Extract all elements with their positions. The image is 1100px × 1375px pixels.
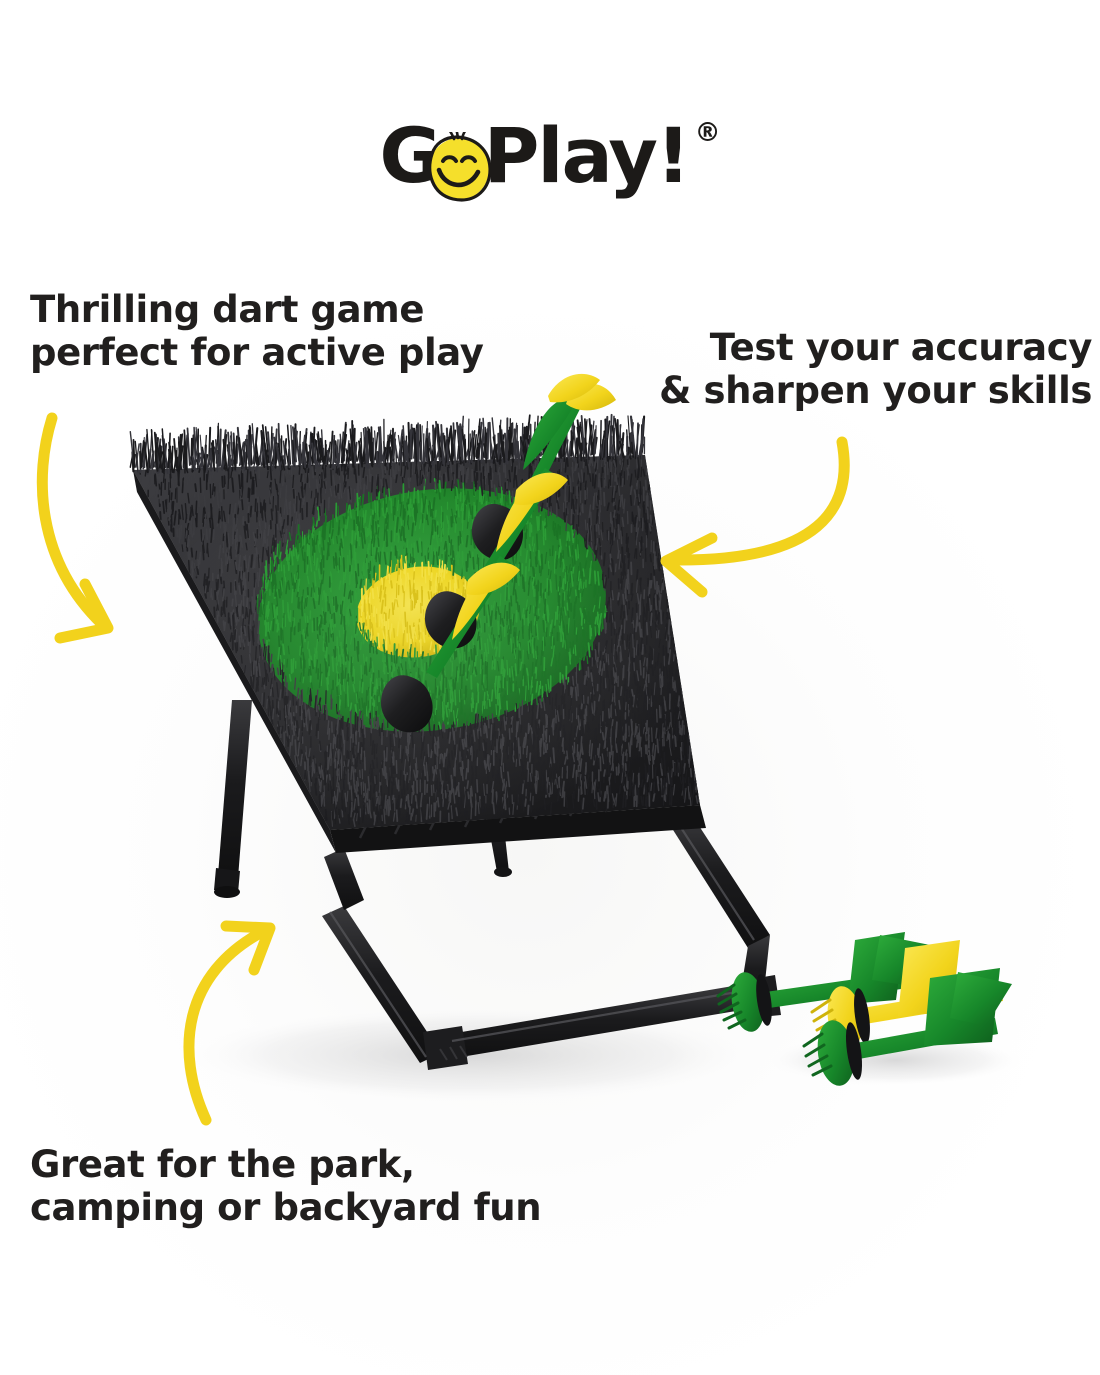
stand-frame [322, 812, 781, 1070]
target-green-ring [240, 464, 623, 756]
curved-arrow-down-left-icon [640, 430, 880, 620]
loose-dart-yellow [812, 940, 1003, 1052]
curved-arrow-up-right-icon [150, 890, 350, 1130]
callout-text-test-your-accuracy: Test your accuracy & sharpen your skills [659, 326, 1092, 413]
dart-in-board-3 [381, 556, 520, 732]
dart-in-board-1 [472, 374, 616, 560]
callout-text-great-for-the-park: Great for the park, camping or backyard … [30, 1143, 541, 1230]
callout-text-thrilling-dart-game: Thrilling dart game perfect for active p… [30, 288, 483, 375]
loose-dart-green-2 [804, 968, 1012, 1088]
stand-front-leg [214, 700, 252, 898]
target-yellow-bullseye [350, 558, 487, 666]
loose-darts-shadow [765, 1034, 1025, 1086]
loose-dart-green-1 [718, 932, 930, 1034]
dart-in-board-2 [425, 468, 568, 648]
product-marketing-image: G Play! ® [0, 0, 1100, 1375]
logo-lockup: G Play! ® [379, 118, 720, 218]
brand-logo: G Play! ® [0, 118, 1100, 218]
smiley-face-icon [426, 132, 492, 202]
stand-rear-leg [487, 818, 512, 877]
registered-trademark-symbol: ® [695, 120, 721, 146]
logo-text-play: Play! [484, 118, 689, 194]
curved-arrow-down-right-icon [30, 380, 240, 680]
